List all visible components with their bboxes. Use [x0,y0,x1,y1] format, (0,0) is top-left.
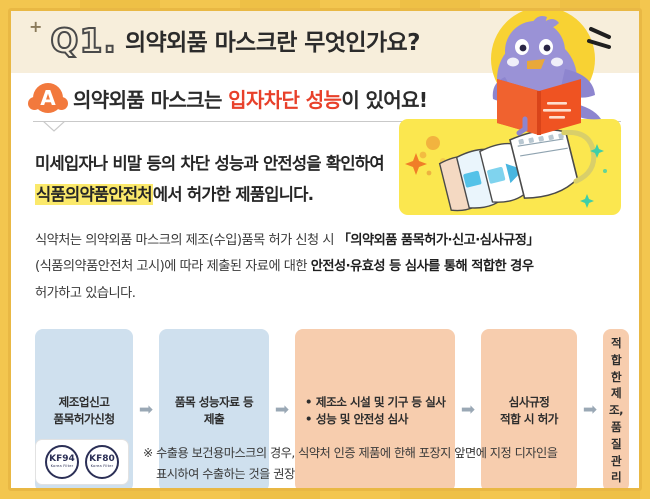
answer-text: 의약외품 마스크는 입자차단 성능이 있어요! [73,84,427,113]
kf80-label: KF80 [89,455,115,464]
flow-step-line: 품목허가신청 [41,411,127,428]
intro-highlight-agency: 식품의약품안전처 [35,184,153,205]
answer-text-highlight: 입자차단 성능 [228,88,341,112]
body-line2-plain: (식품의약품안전처 고시)에 따라 제출된 자료에 대한 [35,259,311,274]
answer-row: A 의약외품 마스크는 입자차단 성능이 있어요! [11,73,639,117]
body-line-2: (식품의약품안전처 고시)에 따라 제출된 자료에 대한 안전성·유효성 등 심… [35,254,619,280]
kf80-badge-icon: KF80 Korea Filter [85,445,119,479]
footnote-text: ※ 수출용 보건용마스크의 경우, 식약처 인증 제품에 한해 포장지 앞면에 … [143,439,557,486]
question-title: 의약외품 마스크란 무엇인가요? [125,32,420,57]
kf-badges-card: KF94 Korea Filter KF80 Korea Filter [35,439,129,485]
answer-badge-letter: A [33,83,63,113]
body-line-3: 허가하고 있습니다. [35,281,619,307]
intro-line1-bold: 차단 성능과 안전성을 확인하여 [180,154,383,173]
intro-line-2: 식품의약품안전처에서 허가한 제품입니다. [35,180,401,211]
kf94-sublabel: Korea Filter [51,465,74,469]
intro-paragraph: 미세입자나 비말 등의 차단 성능과 안전성을 확인하여 식품의약품안전처에서 … [11,133,401,210]
question-number: Q1. [50,24,117,57]
flow-step-line: 적합한 제조, [609,335,623,419]
intro-line2-rest: 에서 허가한 제품입니다. [153,185,313,204]
body-line2-bold: 안전성·유효성 등 심사를 통해 적합한 경우 [311,259,534,274]
kf94-label: KF94 [49,455,75,464]
flow-step-line: 제출 [165,411,263,428]
flow-step-line: 품목 성능자료 등 [165,394,263,411]
infographic-page: + Q1. 의약외품 마스크란 무엇인가요? [0,0,650,499]
flow-step-bullet: 성능 및 안전성 심사 [305,411,449,428]
question-row: + Q1. 의약외품 마스크란 무엇인가요? [29,19,420,57]
answer-text-after: 이 있어요! [341,88,427,112]
question-header-band: + Q1. 의약외품 마스크란 무엇인가요? [11,11,639,73]
flow-step-line: 제조업신고 [41,394,127,411]
flow-step-bullet: 제조소 시설 및 기구 등 실사 [305,394,449,411]
kf80-sublabel: Korea Filter [91,465,114,469]
flow-step-line: 심사규정 [487,394,571,411]
answer-badge-icon: A [33,83,63,113]
footnote-line-2: 표시하여 수출하는 것을 권장 [143,464,557,485]
plus-icon: + [29,19,42,35]
kf94-badge-icon: KF94 Korea Filter [45,445,79,479]
body-line1-regulation: 「의약외품 품목허가·신고·심사규정」 [338,233,539,248]
intro-line1-plain: 미세입자나 비말 등의 [35,154,180,173]
footnote-row: KF94 Korea Filter KF80 Korea Filter ※ 수출… [35,439,621,486]
answer-text-before: 의약외품 마스크는 [73,88,228,112]
body-line1-plain: 식약처는 의약외품 마스크의 제조(수입)품목 허가 신청 시 [35,233,338,248]
body-paragraph: 식약처는 의약외품 마스크의 제조(수입)품목 허가 신청 시 「의약외품 품목… [11,210,639,307]
content-frame: + Q1. 의약외품 마스크란 무엇인가요? [8,8,642,491]
body-line-1: 식약처는 의약외품 마스크의 제조(수입)품목 허가 신청 시 「의약외품 품목… [35,228,619,254]
intro-line-1: 미세입자나 비말 등의 차단 성능과 안전성을 확인하여 [35,149,401,180]
divider-notch-icon [43,121,65,132]
footnote-line-1: ※ 수출용 보건용마스크의 경우, 식약처 인증 제품에 한해 포장지 앞면에 … [143,446,557,460]
mask-layers-illustration [399,119,621,215]
flow-step-line: 적합 시 허가 [487,411,571,428]
